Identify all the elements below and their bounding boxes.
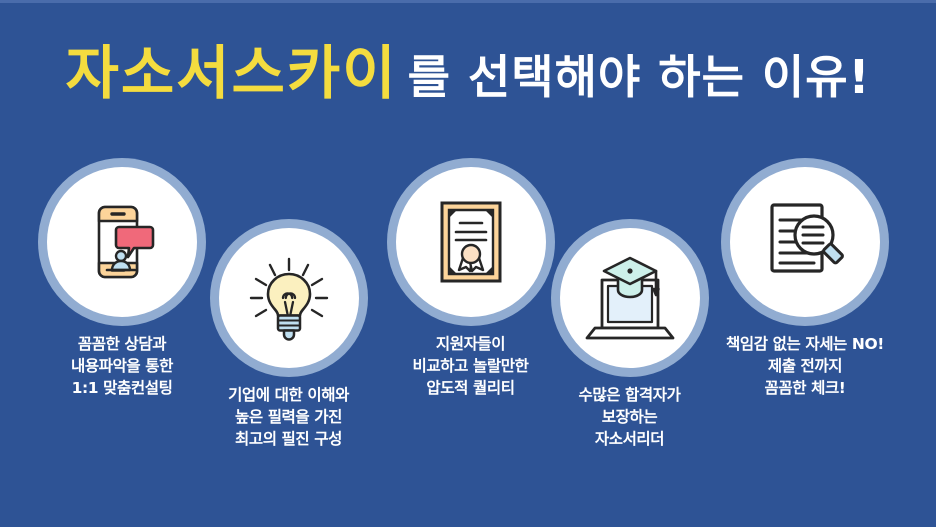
laptop-graduation-cap-icon [582,250,678,346]
feature-3-circle [396,167,546,317]
feature-4-circle [560,228,700,368]
caption-line: 내용파악을 통한 [22,355,222,377]
page-title: 자소서스카이를 선택해야 하는 이유! [0,44,936,102]
caption-line: 압도적 퀄리티 [378,377,563,399]
feature-item-3: 지원자들이 비교하고 놀랄만한 압도적 퀄리티 [378,167,563,399]
feature-1-caption: 꼼꼼한 상담과 내용파악을 통한 1:1 맞춤컨설팅 [22,333,222,399]
smartphone-chat-icon [74,194,170,290]
caption-line: 비교하고 놀랄만한 [378,355,563,377]
certificate-icon [425,196,517,288]
feature-item-2: 기업에 대한 이해와 높은 필력을 가진 최고의 필진 구성 [196,228,381,450]
caption-line: 지원자들이 [378,333,563,355]
feature-4-caption: 수많은 합격자가 보장하는 자소서리더 [537,384,722,450]
caption-line: 기업에 대한 이해와 [196,384,381,406]
caption-line: 1:1 맞춤컨설팅 [22,377,222,399]
caption-line: 꼼꼼한 상담과 [22,333,222,355]
headline-rest-text: 를 선택해야 하는 이유! [408,50,871,104]
feature-item-4: 수많은 합격자가 보장하는 자소서리더 [537,228,722,450]
caption-line: 제출 전까지 [705,355,905,377]
feature-item-5: 책임감 없는 자세는 NO! 제출 전까지 꼼꼼한 체크! [705,167,905,399]
caption-line: 책임감 없는 자세는 NO! [705,333,905,355]
feature-5-caption: 책임감 없는 자세는 NO! 제출 전까지 꼼꼼한 체크! [705,333,905,399]
promo-banner: 자소서스카이를 선택해야 하는 이유! [0,0,936,527]
document-magnifier-icon [758,195,852,289]
caption-line: 보장하는 [537,406,722,428]
feature-3-caption: 지원자들이 비교하고 놀랄만한 압도적 퀄리티 [378,333,563,399]
caption-line: 꼼꼼한 체크! [705,377,905,399]
feature-5-circle [730,167,880,317]
feature-item-1: 꼼꼼한 상담과 내용파악을 통한 1:1 맞춤컨설팅 [22,167,222,399]
caption-line: 수많은 합격자가 [537,384,722,406]
feature-1-circle [47,167,197,317]
caption-line: 최고의 필진 구성 [196,428,381,450]
feature-2-circle [219,228,359,368]
headline-brand-text: 자소서스카이 [65,39,397,107]
lightbulb-icon [243,252,335,344]
top-accent-strip [0,0,936,3]
caption-line: 자소서리더 [537,428,722,450]
feature-2-caption: 기업에 대한 이해와 높은 필력을 가진 최고의 필진 구성 [196,384,381,450]
caption-line: 높은 필력을 가진 [196,406,381,428]
